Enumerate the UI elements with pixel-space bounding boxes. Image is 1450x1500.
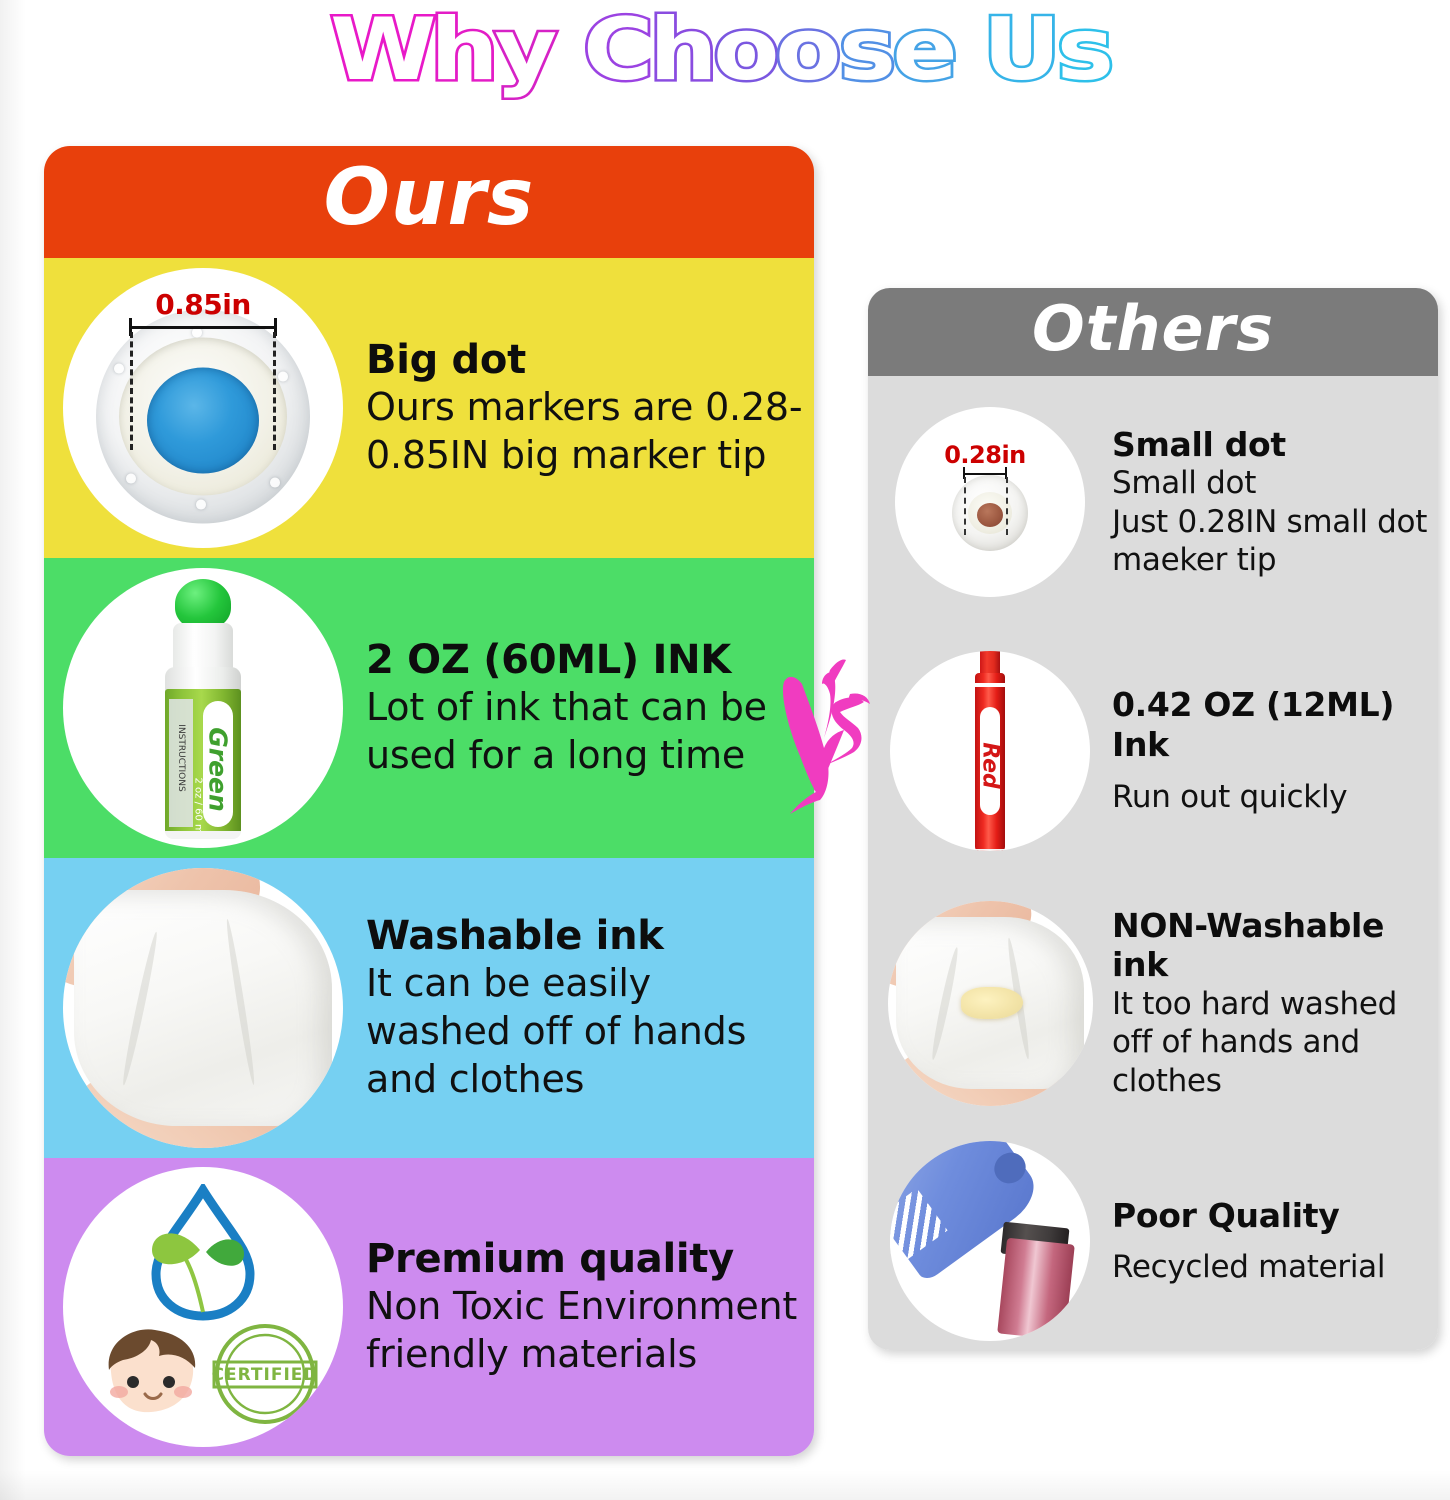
small-dot-media: 0.28in: [868, 407, 1112, 597]
others-heading-poor-quality: Poor Quality: [1112, 1196, 1432, 1236]
others-heading-small-dot: Small dot: [1112, 425, 1432, 465]
ours-body-premium: Non Toxic Environment friendly materials: [366, 1283, 804, 1379]
page-title: WhyChooseUs Why Choose Us: [0, 2, 1450, 98]
bottle-volume-label: 2 oz / 60 ml: [193, 778, 204, 836]
certified-stamp-icon: CERTIFIED: [209, 1322, 321, 1430]
washable-ink-media: [44, 858, 362, 1158]
others-body-small-dot: Small dot Just 0.28IN small dot maeker t…: [1112, 464, 1432, 579]
ours-row-big-dot: 0.85in Big dot Ours markers are 0.28-0.8…: [44, 258, 814, 558]
big-marker-tip-photo: 0.85in: [63, 268, 343, 548]
big-dot-measurement: 0.85in: [129, 292, 277, 352]
poor-quality-media: [868, 1141, 1112, 1341]
eco-droplet-icon: [138, 1184, 268, 1326]
premium-quality-media: CERTIFIED: [44, 1158, 362, 1456]
others-ink-media: Red: [868, 651, 1112, 851]
stained-white-cloth-photo: [888, 901, 1093, 1106]
ours-heading-premium: Premium quality: [366, 1236, 804, 1283]
others-heading-ink: 0.42 OZ (12ML) Ink: [1112, 685, 1432, 764]
small-dot-size-label: 0.28in: [939, 441, 1031, 469]
small-marker-tip-photo: 0.28in: [895, 407, 1085, 597]
child-face-icon: [97, 1326, 205, 1430]
broken-markers-photo: [890, 1141, 1090, 1341]
ours-row-premium-quality: CERTIFIED Premium quality Non Toxic Envi…: [44, 1158, 814, 1456]
eco-certified-icons: CERTIFIED: [63, 1167, 343, 1447]
vs-badge: VS: [778, 654, 874, 822]
others-row-ink-volume: Red 0.42 OZ (12ML) Ink Run out quickly: [868, 628, 1438, 874]
others-row-small-dot: 0.28in Small dot Small dot Just 0.28IN s…: [868, 376, 1438, 628]
ours-body-ink: Lot of ink that can be used for a long t…: [366, 684, 804, 780]
clean-white-cloth-photo: [63, 868, 343, 1148]
certified-stamp-text: CERTIFIED: [211, 1365, 318, 1385]
why-choose-us-comparison-graphic: WhyChooseUs Why Choose Us Ours: [0, 0, 1450, 1500]
others-panel: Others 0.28in Small dot Sm: [868, 288, 1438, 1350]
others-row-non-washable: NON-Washable ink It too hard washed off …: [868, 874, 1438, 1132]
big-dot-size-label: 0.85in: [129, 288, 277, 321]
bottle-brand-label: Green: [204, 707, 233, 833]
ours-heading-big-dot: Big dot: [366, 337, 804, 384]
big-dot-media: 0.85in: [44, 258, 362, 558]
ink-volume-media: INSTRUCTIONS Green 2 oz / 60 ml: [44, 558, 362, 858]
ours-panel-header: Ours: [44, 146, 814, 258]
others-row-poor-quality: Poor Quality Recycled material: [868, 1132, 1438, 1350]
ours-body-big-dot: Ours markers are 0.28-0.85IN big marker …: [366, 384, 804, 480]
ours-row-washable-ink: Washable ink It can be easily washed off…: [44, 858, 814, 1158]
others-body-poor-quality: Recycled material: [1112, 1248, 1432, 1286]
others-heading-non-washable: NON-Washable ink: [1112, 906, 1432, 985]
non-washable-media: [868, 901, 1112, 1106]
small-dot-measurement: 0.28in: [957, 451, 1013, 501]
green-dauber-bottle-photo: INSTRUCTIONS Green 2 oz / 60 ml: [63, 568, 343, 848]
red-marker-photo: Red: [890, 651, 1090, 851]
others-body-ink: Run out quickly: [1112, 778, 1432, 816]
others-body-non-washable: It too hard washed off of hands and clot…: [1112, 985, 1432, 1100]
ours-heading-washable: Washable ink: [366, 913, 804, 960]
ours-body-washable: It can be easily washed off of hands and…: [366, 960, 804, 1104]
others-panel-header: Others: [868, 288, 1438, 376]
ours-panel: Ours 0.85in: [44, 146, 814, 1456]
ours-row-ink-volume: INSTRUCTIONS Green 2 oz / 60 ml 2 OZ (60…: [44, 558, 814, 858]
bottle-instructions-text: INSTRUCTIONS: [176, 694, 186, 822]
ours-heading-ink: 2 OZ (60ML) INK: [366, 637, 804, 684]
red-marker-label: Red: [978, 712, 1003, 820]
